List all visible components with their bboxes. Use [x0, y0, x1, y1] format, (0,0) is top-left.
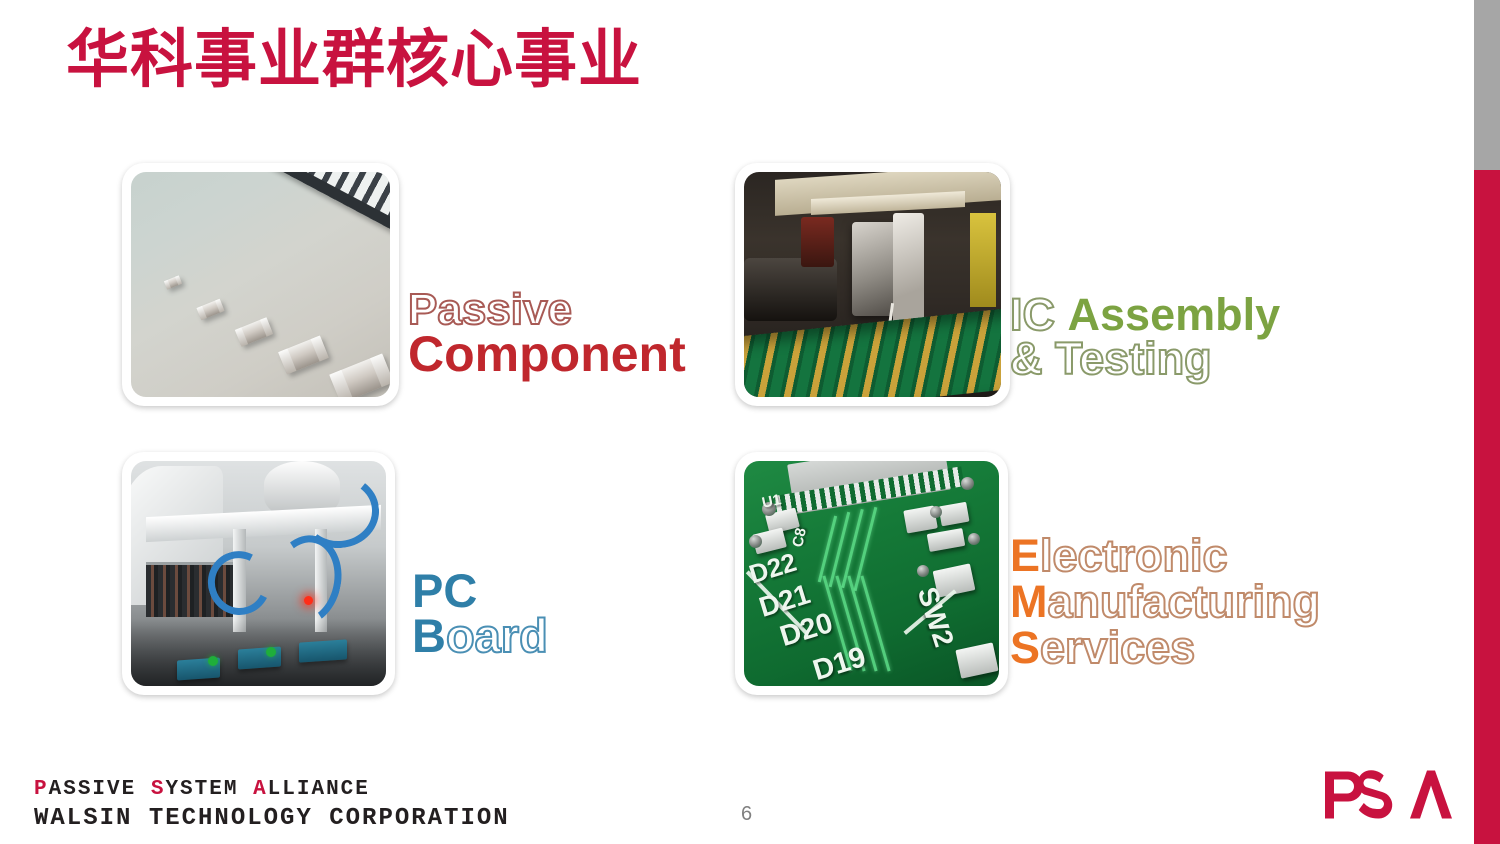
page-number: 6: [741, 803, 752, 826]
green-indicator-light: [266, 647, 276, 657]
green-indicator-light: [208, 656, 218, 666]
mlcc-chip-capacitors-photo: [131, 172, 390, 397]
ic-wire-bonder-machine-photo: [744, 172, 1001, 397]
machine-body: [744, 258, 837, 321]
photo-frame-ems: U1 C8 D22 D21 D20 D19 SW2: [735, 452, 1008, 695]
caption-ems-line-electronic: Electronic: [1010, 533, 1320, 579]
caption-board-lead: B: [412, 609, 446, 662]
footer-company-logo: PASSIVE SYSTEM ALLIANCE WALSIN TECHNOLOG…: [34, 778, 510, 832]
right-edge-gray-bar: [1474, 0, 1500, 170]
caption-board-line: Board: [412, 612, 548, 660]
pcb-assembly-line-photo: [131, 461, 386, 686]
caption-ems-line-services: Services: [1010, 625, 1320, 671]
circuit-board-on-line: [299, 639, 347, 663]
machine-yellow-panel: [970, 213, 996, 308]
caption-pc-board: PC Board: [412, 567, 548, 660]
via-hole: [917, 565, 929, 577]
caption-ems-rest-electronic: lectronic: [1040, 530, 1228, 581]
caption-passive-component: Passive Component: [408, 288, 686, 380]
footer-company-name: WALSIN TECHNOLOGY CORPORATION: [34, 805, 510, 832]
slide-canvas: 华科事业群核心事业 Passive Component: [0, 0, 1500, 844]
footer-tagline-ystem: YSTEM: [165, 778, 253, 801]
silkscreen-label-u1: U1: [760, 491, 782, 512]
caption-ems-lead-m: M: [1010, 576, 1048, 627]
via-hole: [961, 477, 974, 490]
caption-ems-lead-s: S: [1010, 622, 1040, 673]
footer-tagline-s: S: [151, 778, 166, 801]
bond-head-secondary: [893, 213, 924, 326]
footer-tagline-assive: ASSIVE: [49, 778, 151, 801]
caption-ic-assembly-line: IC Assembly: [1010, 292, 1280, 338]
footer-tagline-a: A: [253, 778, 268, 801]
caption-ems-line-manufacturing: Manufacturing: [1010, 579, 1320, 625]
caption-and-testing-line: & Testing: [1010, 336, 1280, 382]
page-title: 华科事业群核心事业: [66, 26, 642, 95]
footer-tagline-lliance: LLIANCE: [268, 778, 370, 801]
photo-frame-passive-component: [122, 163, 399, 406]
footer-tagline-p: P: [34, 778, 49, 801]
machine-red-part: [801, 217, 834, 267]
caption-board-rest: oard: [446, 609, 548, 662]
caption-ems-rest-manufacturing: anufacturing: [1048, 576, 1321, 627]
caption-pc-line: PC: [412, 567, 548, 615]
footer-tagline: PASSIVE SYSTEM ALLIANCE: [34, 778, 510, 801]
caption-component-line: Component: [408, 329, 686, 380]
psa-logo-mark: [1322, 766, 1452, 824]
photo-frame-ic-assembly: [735, 163, 1010, 406]
caption-ems: Electronic Manufacturing Services: [1010, 533, 1320, 671]
green-circuit-board-macro-photo: U1 C8 D22 D21 D20 D19 SW2: [744, 461, 999, 686]
right-edge-crimson-bar: [1474, 170, 1500, 844]
caption-ems-rest-services: ervices: [1040, 622, 1195, 673]
caption-ic-assembly-testing: IC Assembly & Testing: [1010, 292, 1280, 382]
silkscreen-label-c8: C8: [789, 526, 810, 548]
photo-frame-pc-board: [122, 452, 395, 695]
caption-ems-lead-e: E: [1010, 530, 1040, 581]
